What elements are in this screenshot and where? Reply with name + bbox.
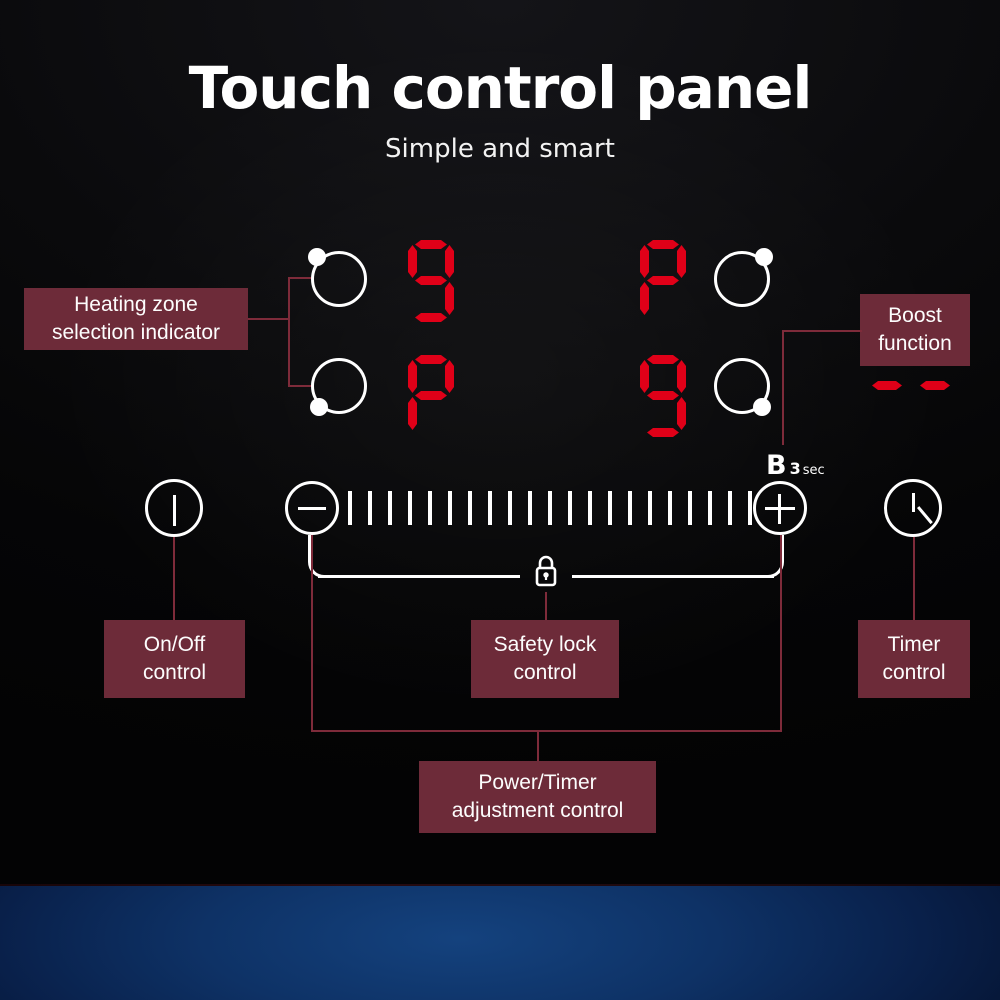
slider-tick xyxy=(628,491,632,525)
display-rear-left xyxy=(408,240,454,322)
zone-indicator-front-left[interactable] xyxy=(311,358,367,414)
bracket-right-horizontal xyxy=(572,575,774,578)
slider-tick xyxy=(388,491,392,525)
zone-indicator-rear-right[interactable] xyxy=(714,251,770,307)
touch-control-panel-infographic: Touch control panel Simple and smart Hea… xyxy=(0,0,1000,1000)
connector-heating-spine xyxy=(288,277,290,387)
slider-tick xyxy=(528,491,532,525)
onoff-button[interactable] xyxy=(145,479,203,537)
callout-safety-lock-line1: Safety lock xyxy=(494,631,597,659)
callout-power-timer: Power/Timer adjustment control xyxy=(419,761,656,833)
slider-tick xyxy=(748,491,752,525)
connector-adjust-stem xyxy=(537,730,539,762)
clock-icon-hand-minute xyxy=(917,506,933,524)
callout-power-timer-line1: Power/Timer xyxy=(478,769,596,797)
callout-safety-lock-line2: control xyxy=(513,659,576,687)
callout-onoff-line2: control xyxy=(143,659,206,687)
slider-tick xyxy=(448,491,452,525)
zone-dot-front-left xyxy=(310,398,328,416)
connector-boost-drop xyxy=(782,330,784,445)
boost-hold-hint: B3sec xyxy=(766,450,825,481)
connector-adjust-crossbar xyxy=(311,730,782,732)
callout-power-timer-line2: adjustment control xyxy=(452,797,624,825)
callout-timer-line2: control xyxy=(882,659,945,687)
timer-button[interactable] xyxy=(884,479,942,537)
slider-tick xyxy=(588,491,592,525)
slider-tick xyxy=(728,491,732,525)
callout-timer: Timer control xyxy=(858,620,970,698)
slider-tick xyxy=(468,491,472,525)
callout-onoff-line1: On/Off xyxy=(144,631,205,659)
callout-timer-line1: Timer xyxy=(888,631,941,659)
slider-tick xyxy=(368,491,372,525)
slider-tick xyxy=(708,491,712,525)
plus-icon-vertical xyxy=(778,494,781,524)
zone-dot-rear-left xyxy=(308,248,326,266)
callout-heating-zone-line2: selection indicator xyxy=(52,319,220,347)
slider-tick xyxy=(568,491,572,525)
connector-boost-top xyxy=(782,330,862,332)
callout-heating-zone: Heating zone selection indicator xyxy=(24,288,248,350)
slider-tick xyxy=(348,491,352,525)
cooktop-surface-band xyxy=(0,886,1000,1000)
callout-safety-lock: Safety lock control xyxy=(471,620,619,698)
display-front-right xyxy=(640,355,686,437)
zone-indicator-front-right[interactable] xyxy=(714,358,770,414)
callout-onoff: On/Off control xyxy=(104,620,245,698)
slider-tick xyxy=(608,491,612,525)
boost-hold-unit: sec xyxy=(803,463,825,478)
callout-boost: Boost function xyxy=(860,294,970,366)
power-icon xyxy=(173,495,176,526)
boost-hold-key: B xyxy=(766,450,787,481)
zone-dot-rear-right xyxy=(755,248,773,266)
slider-tick xyxy=(508,491,512,525)
padlock-icon[interactable] xyxy=(531,551,561,593)
boost-indicator-dashes xyxy=(872,381,958,391)
clock-icon-hand-hour xyxy=(912,493,915,512)
connector-onoff xyxy=(173,537,175,620)
decrease-button[interactable] xyxy=(285,481,339,535)
display-rear-right xyxy=(640,240,686,322)
page-subtitle: Simple and smart xyxy=(0,134,1000,164)
callout-heating-zone-line1: Heating zone xyxy=(74,291,198,319)
slider-tick xyxy=(488,491,492,525)
connector-timer xyxy=(913,537,915,620)
slider-tick xyxy=(648,491,652,525)
zone-indicator-rear-left[interactable] xyxy=(311,251,367,307)
slider-tick xyxy=(428,491,432,525)
minus-icon xyxy=(298,507,326,510)
slider-tick xyxy=(668,491,672,525)
connector-plus-drop xyxy=(780,535,782,731)
power-slider-track[interactable] xyxy=(348,491,752,525)
slider-tick xyxy=(548,491,552,525)
bracket-left-horizontal xyxy=(318,575,520,578)
connector-heating-stem xyxy=(248,318,290,320)
slider-tick xyxy=(408,491,412,525)
page-title: Touch control panel xyxy=(0,54,1000,122)
zone-dot-front-right xyxy=(753,398,771,416)
increase-button[interactable] xyxy=(753,481,807,535)
callout-boost-line2: function xyxy=(878,330,952,358)
slider-tick xyxy=(688,491,692,525)
boost-hold-duration: 3 xyxy=(790,459,801,478)
connector-minus-drop xyxy=(311,535,313,731)
display-front-left xyxy=(408,355,454,437)
padlock-icon-svg xyxy=(531,551,561,593)
connector-safety-lock xyxy=(545,592,547,620)
callout-boost-line1: Boost xyxy=(888,302,942,330)
